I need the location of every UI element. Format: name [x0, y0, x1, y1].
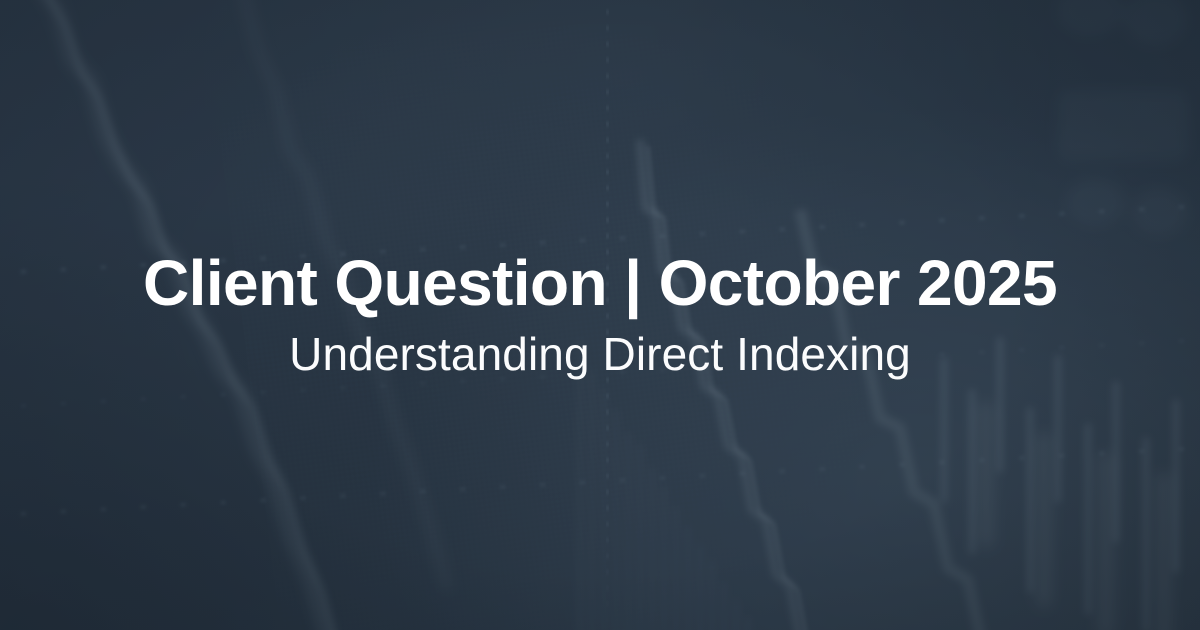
banner-subtitle: Understanding Direct Indexing — [289, 329, 911, 381]
hero-banner: Client Question | October 2025 Understan… — [0, 0, 1200, 630]
banner-title: Client Question | October 2025 — [143, 250, 1057, 317]
banner-content: Client Question | October 2025 Understan… — [0, 0, 1200, 630]
